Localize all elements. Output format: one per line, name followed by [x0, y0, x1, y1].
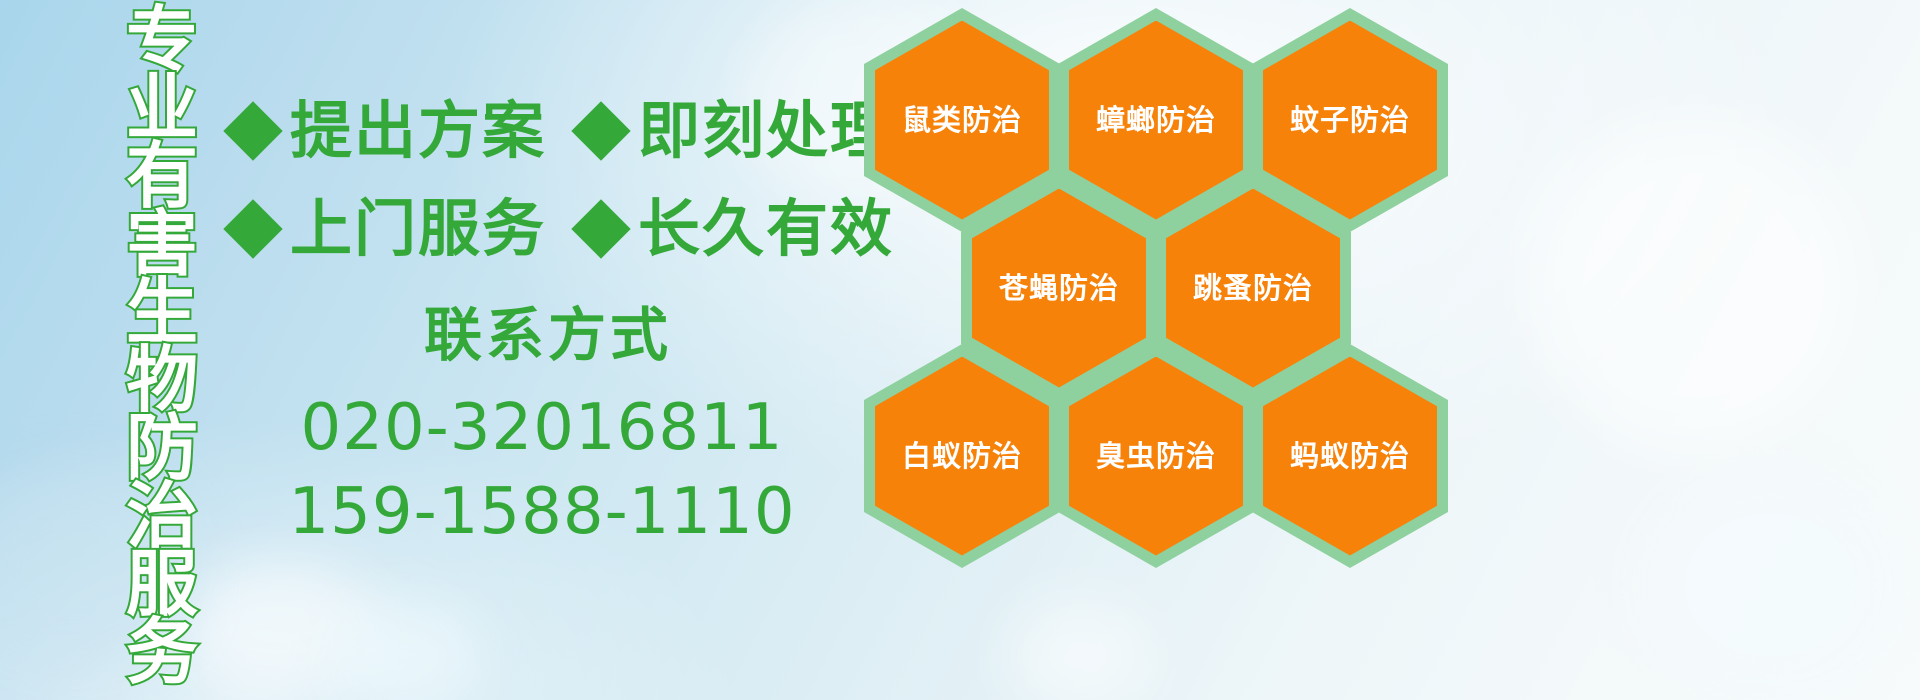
service-hex-label: 鼠类防治: [902, 103, 1022, 137]
service-hex-label: 苍蝇防治: [999, 271, 1119, 305]
promo-banner: 专 业 有 害 生 物 防 治 服 务 提出方案 即刻处理 上门服务: [0, 0, 1920, 700]
hex-inner: 鼠类防治: [875, 21, 1049, 220]
diamond-icon: [571, 101, 630, 160]
feature-label: 长久有效: [638, 198, 894, 260]
hex-inner: 跳蚤防治: [1166, 189, 1340, 388]
vertical-title-char: 有: [126, 142, 198, 210]
vertical-title-char: 防: [126, 414, 198, 482]
feature-item-onsite-service: 上门服务: [232, 198, 546, 260]
hex-inner: 臭虫防治: [1069, 357, 1243, 556]
background-bokeh-blob: [1530, 120, 1860, 450]
vertical-title-char: 害: [126, 210, 198, 278]
feature-list: 提出方案 即刻处理 上门服务 长久有效: [232, 82, 872, 278]
vertical-title-char: 专: [126, 6, 198, 74]
service-hex-label: 臭虫防治: [1096, 439, 1216, 473]
hex-inner: 蚂蚁防治: [1263, 357, 1437, 556]
service-hex-grid: 鼠类防治 蟑螂防治 蚊子防治 苍蝇防治 跳蚤防治 白蚁防治: [858, 0, 1458, 700]
diamond-icon: [223, 101, 282, 160]
hex-inner: 蚊子防治: [1263, 21, 1437, 220]
feature-item-propose-plan: 提出方案: [232, 100, 546, 162]
feature-item-immediate-treatment: 即刻处理: [580, 100, 894, 162]
vertical-title-char: 业: [126, 74, 198, 142]
service-hex-label: 跳蚤防治: [1193, 271, 1313, 305]
vertical-title-char: 生: [126, 278, 198, 346]
feature-item-long-lasting: 长久有效: [580, 198, 894, 260]
service-hex-label: 蚊子防治: [1290, 103, 1410, 137]
contact-phone-landline[interactable]: 020-32016811: [232, 386, 852, 470]
service-hex-label: 蟑螂防治: [1096, 103, 1216, 137]
contact-phone-mobile[interactable]: 159-1588-1110: [232, 470, 852, 554]
service-hex-label: 白蚁防治: [902, 439, 1022, 473]
diamond-icon: [571, 199, 630, 258]
hex-inner: 蟑螂防治: [1069, 21, 1243, 220]
vertical-title-char: 治: [126, 482, 198, 550]
vertical-title: 专 业 有 害 生 物 防 治 服 务: [104, 6, 220, 696]
feature-label: 提出方案: [290, 100, 546, 162]
background-bokeh-blob: [330, 600, 480, 700]
background-bokeh-blob: [1640, 470, 1900, 700]
contact-heading: 联系方式: [244, 300, 852, 370]
service-hex-label: 蚂蚁防治: [1290, 439, 1410, 473]
contact-block: 联系方式 020-32016811 159-1588-1110: [232, 300, 852, 554]
vertical-title-char: 服: [126, 550, 198, 618]
feature-label: 上门服务: [290, 198, 546, 260]
hex-inner: 苍蝇防治: [972, 189, 1146, 388]
feature-row: 提出方案 即刻处理: [232, 82, 872, 180]
vertical-title-char: 物: [126, 346, 198, 414]
feature-label: 即刻处理: [638, 100, 894, 162]
feature-row: 上门服务 长久有效: [232, 180, 872, 278]
diamond-icon: [223, 199, 282, 258]
hex-inner: 白蚁防治: [875, 357, 1049, 556]
vertical-title-char: 务: [126, 618, 198, 686]
